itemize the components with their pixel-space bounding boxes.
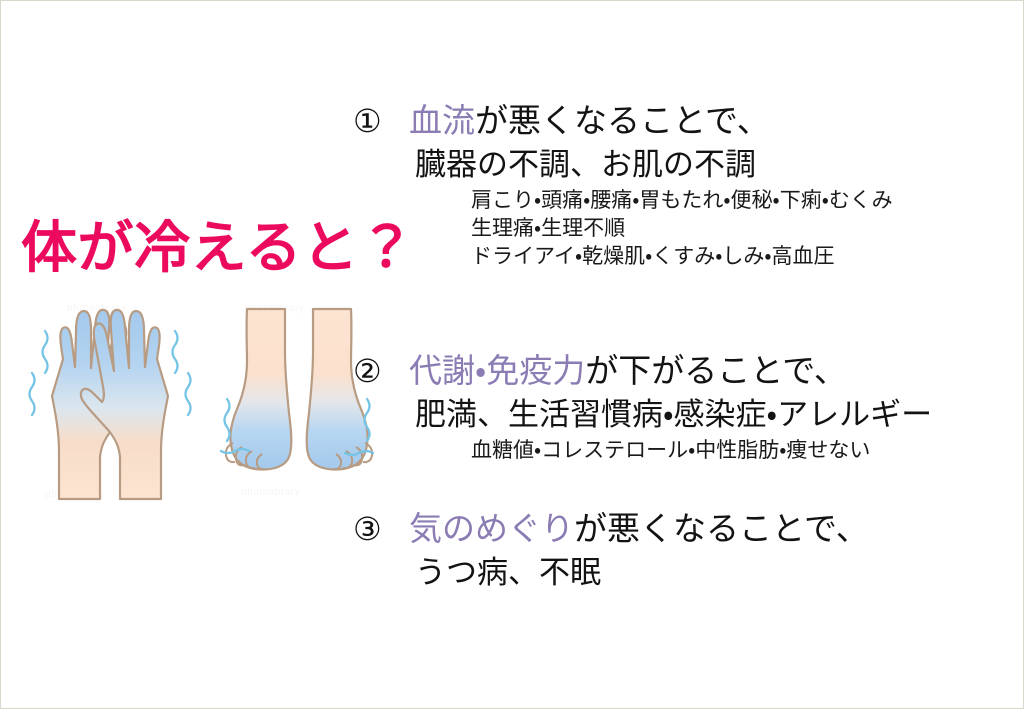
list-item: ② 代謝・免疫力が下がることで、 肥満、生活習慣病・感染症・アレルギー 血糖値・… — [353, 349, 932, 465]
accent-term: 血流 — [409, 102, 475, 139]
block-subheading: 臓器の不調、お肌の不調 — [415, 143, 893, 187]
block-heading: 血流が悪くなることで、 — [409, 99, 770, 143]
cold-hands-icon — [15, 301, 205, 501]
block-heading-row: ② 代謝・免疫力が下がることで、 — [353, 349, 932, 393]
list-number: ③ — [353, 507, 409, 551]
page-title: 体が冷えると？ — [21, 217, 401, 279]
block-detail-line: 生理痛・生理不順 — [471, 215, 893, 243]
block-detail-line: ドライアイ・乾燥肌・くすみ・しみ・高血圧 — [471, 243, 893, 271]
list-number: ② — [353, 349, 409, 393]
block-heading: 代謝・免疫力が下がることで、 — [409, 349, 847, 393]
accent-term: 気のめぐり — [409, 510, 574, 547]
block-heading-row: ③ 気のめぐりが悪くなることで、 — [353, 507, 869, 551]
heading-rest: が悪くなることで、 — [574, 510, 869, 547]
heading-rest: が下がることで、 — [585, 352, 847, 389]
accent-term: 代謝・免疫力 — [409, 352, 585, 389]
slide-canvas: 体が冷えると？ photolibrary photolibrary photol… — [0, 0, 1024, 709]
list-item: ③ 気のめぐりが悪くなることで、 うつ病、不眠 — [353, 507, 869, 595]
block-heading-row: ① 血流が悪くなることで、 — [353, 99, 893, 143]
list-item: ① 血流が悪くなることで、 臓器の不調、お肌の不調 肩こり・頭痛・腰痛・胃もたれ… — [353, 99, 893, 271]
block-subheading: うつ病、不眠 — [415, 551, 869, 595]
list-number: ① — [353, 99, 409, 143]
heading-rest: が悪くなることで、 — [475, 102, 770, 139]
block-detail-line: 血糖値・コレステロール・中性脂肪・痩せない — [471, 437, 932, 465]
block-heading: 気のめぐりが悪くなることで、 — [409, 507, 869, 551]
block-subheading: 肥満、生活習慣病・感染症・アレルギー — [415, 393, 932, 437]
block-detail-line: 肩こり・頭痛・腰痛・胃もたれ・便秘・下痢・むくみ — [471, 187, 893, 215]
illustration-group: photolibrary photolibrary photolibrary p… — [9, 301, 389, 516]
